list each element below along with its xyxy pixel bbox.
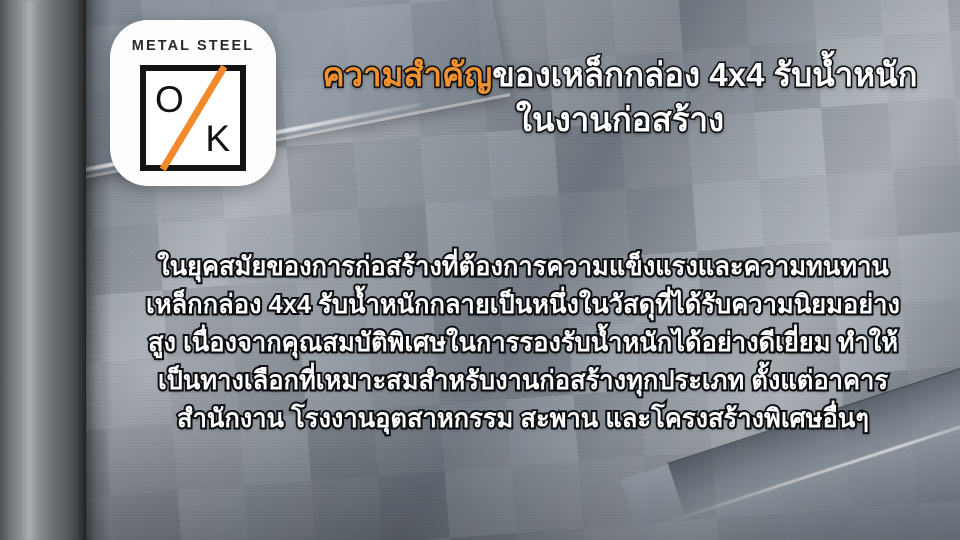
body-line-2: เหล็กกล่อง 4x4 รับน้ำหนักกลายเป็นหนึ่งใน… bbox=[86, 286, 960, 324]
logo-ok-box: O K bbox=[140, 65, 246, 171]
page-title: ความสำคัญของเหล็กกล่อง 4x4 รับน้ำหนัก ใน… bbox=[288, 52, 952, 142]
body-paragraph: ในยุคสมัยของการก่อสร้างที่ต้องการความแข็… bbox=[86, 248, 960, 438]
banner-canvas: METAL STEEL O K ความสำคัญของเหล็กกล่อง 4… bbox=[0, 0, 960, 540]
body-line-4: เป็นทางเลือกที่เหมาะสมสำหรับงานก่อสร้างท… bbox=[86, 362, 960, 400]
body-line-3: สูง เนื่องจากคุณสมบัติพิเศษในการรองรับน้… bbox=[86, 324, 960, 362]
title-accent-text: ความสำคัญ bbox=[322, 56, 492, 93]
logo-letter-o: O bbox=[155, 81, 184, 118]
steel-column-highlight bbox=[22, 0, 38, 540]
body-line-1: ในยุคสมัยของการก่อสร้างที่ต้องการความแข็… bbox=[86, 248, 960, 286]
body-line-5: สำนักงาน โรงงานอุตสาหกรรม สะพาน และโครงส… bbox=[86, 400, 960, 438]
steel-column bbox=[0, 0, 86, 540]
logo-letter-k: K bbox=[205, 120, 230, 157]
brand-logo-card[interactable]: METAL STEEL O K bbox=[110, 20, 276, 186]
brand-wordmark: METAL STEEL bbox=[132, 39, 254, 54]
title-line2: ในงานก่อสร้าง bbox=[516, 101, 724, 138]
title-rest-line1: ของเหล็กกล่อง 4x4 รับน้ำหนัก bbox=[492, 56, 917, 93]
